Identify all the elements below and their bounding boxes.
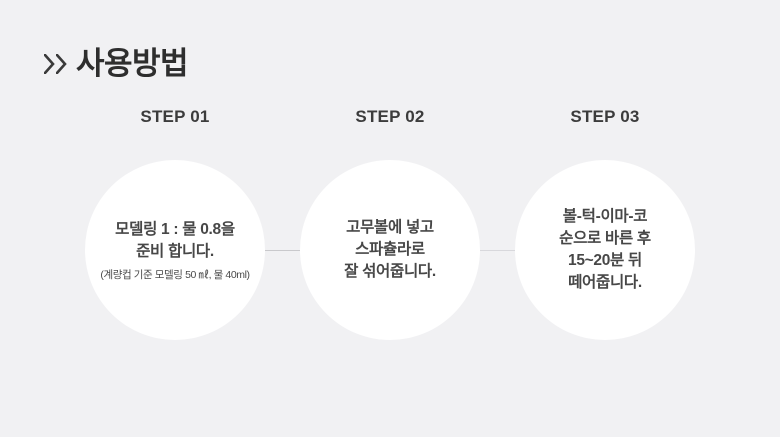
step-circle-2: 고무볼에 넣고 스파츌라로 잘 섞어줍니다. xyxy=(300,160,480,340)
step-circle-3: 볼-턱-이마-코 순으로 바른 후 15~20분 뒤 떼어줍니다. xyxy=(515,160,695,340)
step-text-line: 잘 섞어줍니다. xyxy=(344,261,436,283)
page-title: 사용방법 xyxy=(76,48,188,79)
step-text-line: 준비 합니다. xyxy=(115,241,235,263)
step-item-1: STEP 01 모델링 1 : 물 0.8을 준비 합니다. (계량컵 기준 모… xyxy=(75,108,275,126)
double-chevron-right-icon xyxy=(44,54,67,74)
step-label-1: STEP 01 xyxy=(75,108,275,126)
page-heading: 사용방법 xyxy=(44,38,188,88)
step-circle-1: 모델링 1 : 물 0.8을 준비 합니다. (계량컵 기준 모델링 50 ㎖,… xyxy=(85,160,265,340)
step-text-1: 모델링 1 : 물 0.8을 준비 합니다. xyxy=(115,219,235,263)
step-label-3: STEP 03 xyxy=(505,108,705,126)
step-label-2: STEP 02 xyxy=(290,108,490,126)
step-text-line: 고무볼에 넣고 xyxy=(344,217,436,239)
usage-instructions-page: 사용방법 STEP 01 모델링 1 : 물 0.8을 준비 합니다. (계량컵… xyxy=(0,0,780,437)
step-item-2: STEP 02 고무볼에 넣고 스파츌라로 잘 섞어줍니다. xyxy=(290,108,490,126)
step-text-line: 스파츌라로 xyxy=(344,239,436,261)
step-text-line: 모델링 1 : 물 0.8을 xyxy=(115,219,235,241)
steps-container: STEP 01 모델링 1 : 물 0.8을 준비 합니다. (계량컵 기준 모… xyxy=(0,108,780,358)
step-text-line: 볼-턱-이마-코 xyxy=(559,206,651,228)
step-item-3: STEP 03 볼-턱-이마-코 순으로 바른 후 15~20분 뒤 떼어줍니다… xyxy=(505,108,705,126)
step-text-2: 고무볼에 넣고 스파츌라로 잘 섞어줍니다. xyxy=(344,217,436,283)
step-text-line: 떼어줍니다. xyxy=(559,272,651,294)
step-note-1: (계량컵 기준 모델링 50 ㎖, 물 40ml) xyxy=(100,269,249,282)
step-text-3: 볼-턱-이마-코 순으로 바른 후 15~20분 뒤 떼어줍니다. xyxy=(559,206,651,294)
step-text-line: 15~20분 뒤 xyxy=(559,250,651,272)
step-text-line: 순으로 바른 후 xyxy=(559,228,651,250)
